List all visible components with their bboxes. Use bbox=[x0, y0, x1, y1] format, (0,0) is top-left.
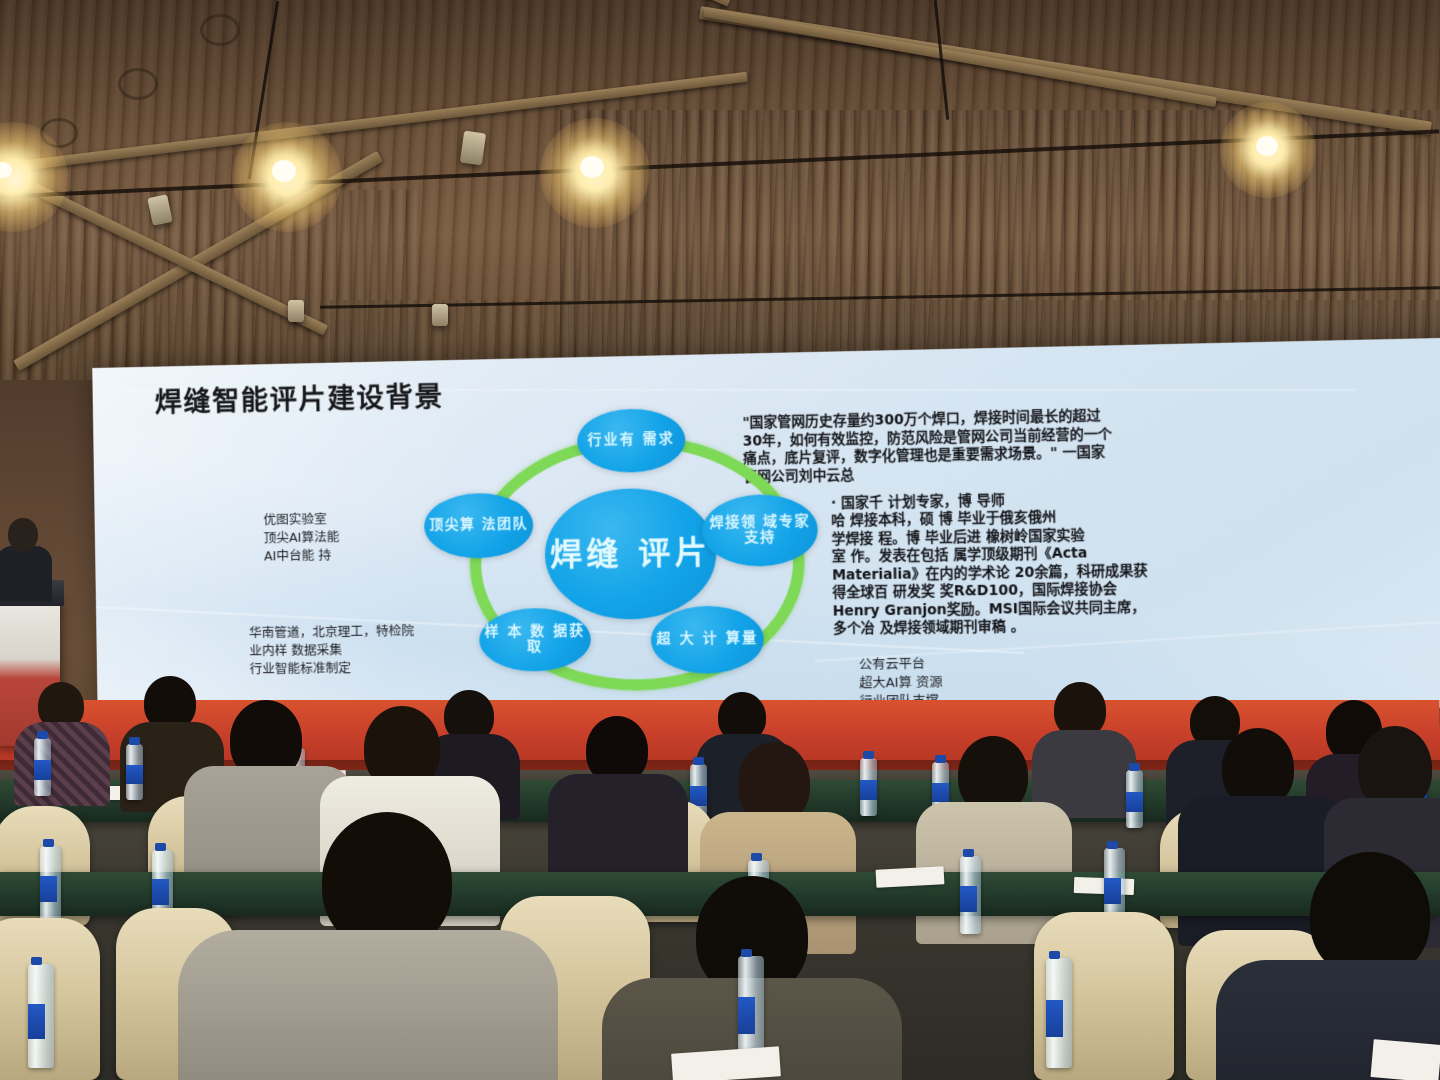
bottle-cap bbox=[693, 757, 704, 765]
bottle-cap bbox=[129, 737, 140, 745]
bottle-label bbox=[126, 765, 143, 784]
bottle-cap bbox=[1129, 763, 1140, 771]
ceiling-lamp-center-core bbox=[272, 160, 296, 182]
bottle-cap bbox=[935, 755, 946, 763]
hanging-speaker-mid2 bbox=[432, 304, 448, 326]
bottle-label bbox=[860, 780, 877, 800]
bottle-cap bbox=[963, 849, 974, 857]
circular-diagram: 焊缝 评片 行业有 需求 焊接领 域专家 支持 超 大 计 算量 样 本 数 据… bbox=[414, 413, 855, 695]
bottle-cap bbox=[863, 751, 874, 759]
bottle-label bbox=[932, 783, 949, 802]
bottle-label bbox=[738, 997, 755, 1034]
bottle-label bbox=[1046, 1000, 1063, 1037]
bottle-label bbox=[40, 876, 57, 903]
ceiling-ring-2 bbox=[118, 68, 158, 100]
water-bottle bbox=[960, 856, 981, 934]
bottle-cap bbox=[751, 853, 762, 861]
bottle-label bbox=[34, 760, 51, 780]
ceiling-ring-1 bbox=[200, 14, 240, 46]
paper-mid-1 bbox=[876, 866, 945, 888]
bottle-cap bbox=[1107, 841, 1118, 849]
bottle-cap bbox=[43, 839, 54, 847]
projection-screen: 焊缝智能评片建设背景 "国家管网历史存量约300万个焊口，焊接时间最长的超过 3… bbox=[92, 337, 1440, 720]
bottle-label bbox=[28, 1004, 45, 1039]
bottle-label bbox=[1126, 792, 1143, 812]
water-bottle bbox=[1126, 770, 1143, 828]
bottle-cap bbox=[155, 843, 166, 851]
water-bottle bbox=[40, 846, 61, 924]
ceiling-lamp-far-right-core bbox=[1256, 136, 1278, 156]
bottle-label bbox=[152, 879, 169, 905]
ceiling-lamp-right-core bbox=[580, 156, 604, 178]
annotation-partners: 华南管道，北京理工，特检院 业内样 数据采集 行业智能标准制定 bbox=[249, 622, 415, 678]
bottle-label bbox=[960, 886, 977, 913]
bottle-cap bbox=[741, 949, 752, 957]
body bbox=[14, 722, 110, 806]
bottle-cap bbox=[37, 731, 48, 739]
water-bottle bbox=[126, 744, 143, 800]
bottle-cap bbox=[1049, 951, 1060, 959]
water-bottle bbox=[1046, 958, 1072, 1068]
hanging-speaker-mid bbox=[288, 300, 304, 322]
bottle-label bbox=[1104, 878, 1121, 905]
annotation-lab: 优图实验室 顶尖AI算法能 AI中台能 持 bbox=[263, 510, 340, 565]
page-title: 焊缝智能评片建设背景 bbox=[154, 374, 443, 419]
hanging-speaker-right bbox=[460, 131, 486, 166]
diagram-node-compute-power: 超 大 计 算量 bbox=[650, 605, 764, 674]
body bbox=[178, 930, 558, 1080]
slide-expert-bio: · 国家千 计划专家，博 导师 哈 焊接本科，硕 博 毕业于俄亥俄州 学焊接 程… bbox=[831, 485, 1440, 639]
water-bottle bbox=[34, 738, 51, 796]
presenter-body bbox=[0, 546, 52, 602]
presenter-head bbox=[8, 518, 38, 552]
paper-near-2 bbox=[1370, 1039, 1440, 1080]
bottle-cap bbox=[31, 957, 42, 965]
water-bottle bbox=[28, 964, 54, 1068]
conference-photo: 焊缝智能评片建设背景 "国家管网历史存量约300万个焊口，焊接时间最长的超过 3… bbox=[0, 0, 1440, 1080]
water-bottle bbox=[860, 758, 877, 816]
